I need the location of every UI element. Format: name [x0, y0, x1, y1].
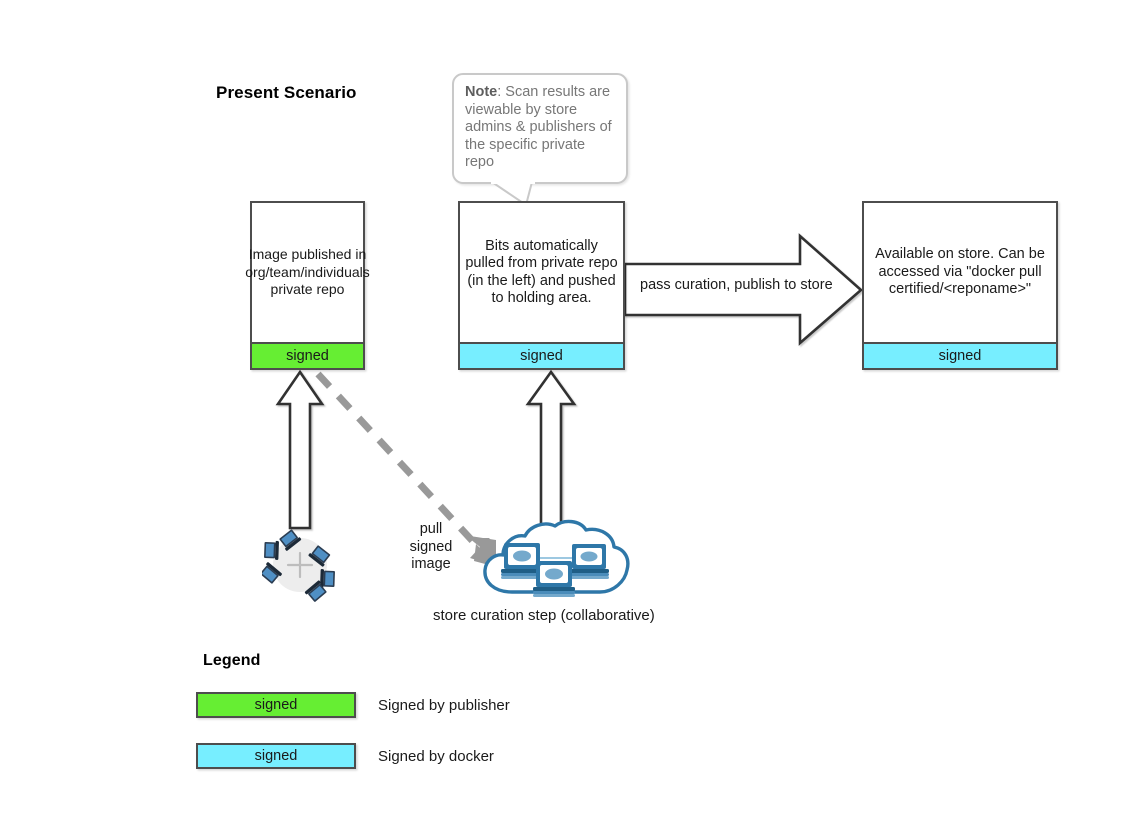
legend-description-publisher: Signed by publisher	[378, 697, 510, 714]
legend-item-publisher: signed Signed by publisher	[196, 692, 510, 718]
legend-swatch-docker: signed	[196, 743, 356, 769]
box-holding-area-signed-badge: signed	[460, 342, 623, 368]
publisher-devices-icon	[262, 527, 338, 603]
arrow-publish-to-private-repo	[278, 372, 322, 528]
legend-description-docker: Signed by docker	[378, 748, 494, 765]
box-store-text: Available on store. Can be accessed via …	[864, 203, 1056, 342]
legend-title: Legend	[203, 652, 261, 670]
arrow-push-to-holding-area	[528, 372, 574, 540]
box-private-repo: Image published in org/team/individuals …	[250, 201, 365, 370]
arrow-label-pull-signed-image: pull signed image	[401, 521, 461, 574]
cloud-network-icon	[476, 516, 632, 604]
note-label: Note	[465, 84, 497, 100]
cloud-caption: store curation step (collaborative)	[433, 607, 655, 625]
box-private-repo-text: Image published in org/team/individuals …	[252, 203, 363, 342]
page-title: Present Scenario	[216, 83, 357, 103]
box-store-signed-badge: signed	[864, 342, 1056, 368]
legend-item-docker: signed Signed by docker	[196, 743, 494, 769]
note-callout: Note: Scan results are viewable by store…	[452, 73, 628, 184]
arrow-label-pass-curation: pass curation, publish to store	[640, 277, 833, 295]
box-holding-area: Bits automatically pulled from private r…	[458, 201, 625, 370]
box-store: Available on store. Can be accessed via …	[862, 201, 1058, 370]
box-private-repo-signed-badge: signed	[252, 342, 363, 368]
legend-swatch-publisher: signed	[196, 692, 356, 718]
diagram-canvas: Present Scenario Note: Scan results are …	[0, 0, 1131, 825]
box-holding-area-text: Bits automatically pulled from private r…	[460, 203, 623, 342]
